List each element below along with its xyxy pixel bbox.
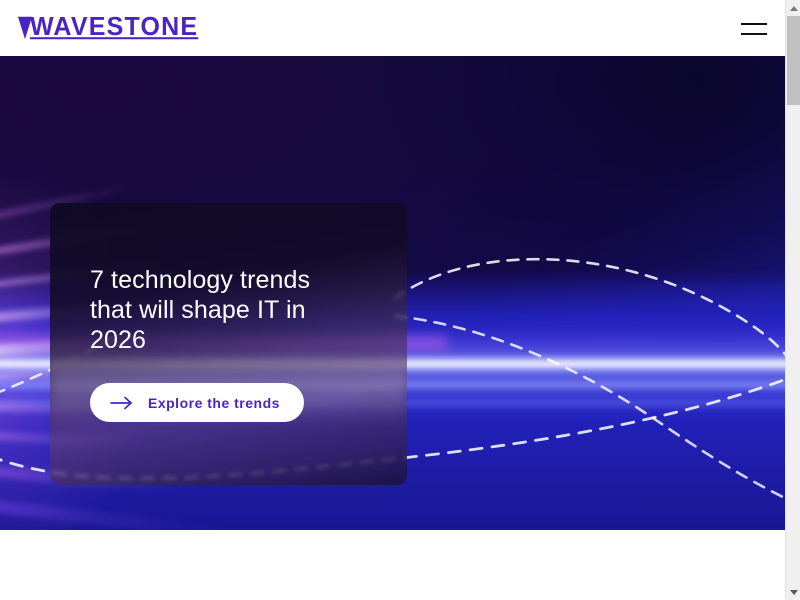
arrow-right-icon (110, 396, 134, 410)
wavestone-logo[interactable]: WAVESTONE (18, 14, 198, 41)
logo-wedge-icon (18, 17, 32, 39)
hamburger-menu-icon[interactable] (740, 16, 768, 40)
dashed-arc-middle (395, 316, 785, 498)
page-viewport: WAVESTONE (0, 0, 785, 600)
explore-the-trends-button[interactable]: Explore the trends (90, 383, 304, 422)
vertical-scrollbar[interactable] (785, 0, 800, 600)
scroll-up-triangle (790, 6, 798, 11)
logo-wordmark: WAVESTONE (30, 14, 198, 41)
cta-label: Explore the trends (148, 395, 280, 411)
hero-title: 7 technology trends that will shape IT i… (90, 265, 370, 355)
scroll-down-triangle (790, 590, 798, 595)
scroll-thumb[interactable] (787, 16, 800, 105)
site-header: WAVESTONE (0, 0, 785, 56)
browser-page: WAVESTONE (0, 0, 800, 600)
hero-content-card: 7 technology trends that will shape IT i… (50, 203, 407, 485)
page-body-below-hero (0, 530, 785, 600)
scroll-down-arrow-icon[interactable] (786, 584, 800, 600)
dashed-arc-upper (395, 259, 785, 376)
menu-line-top (741, 23, 767, 25)
scroll-up-arrow-icon[interactable] (786, 0, 800, 16)
menu-line-bottom (741, 33, 767, 35)
hero-section: 7 technology trends that will shape IT i… (0, 56, 785, 530)
